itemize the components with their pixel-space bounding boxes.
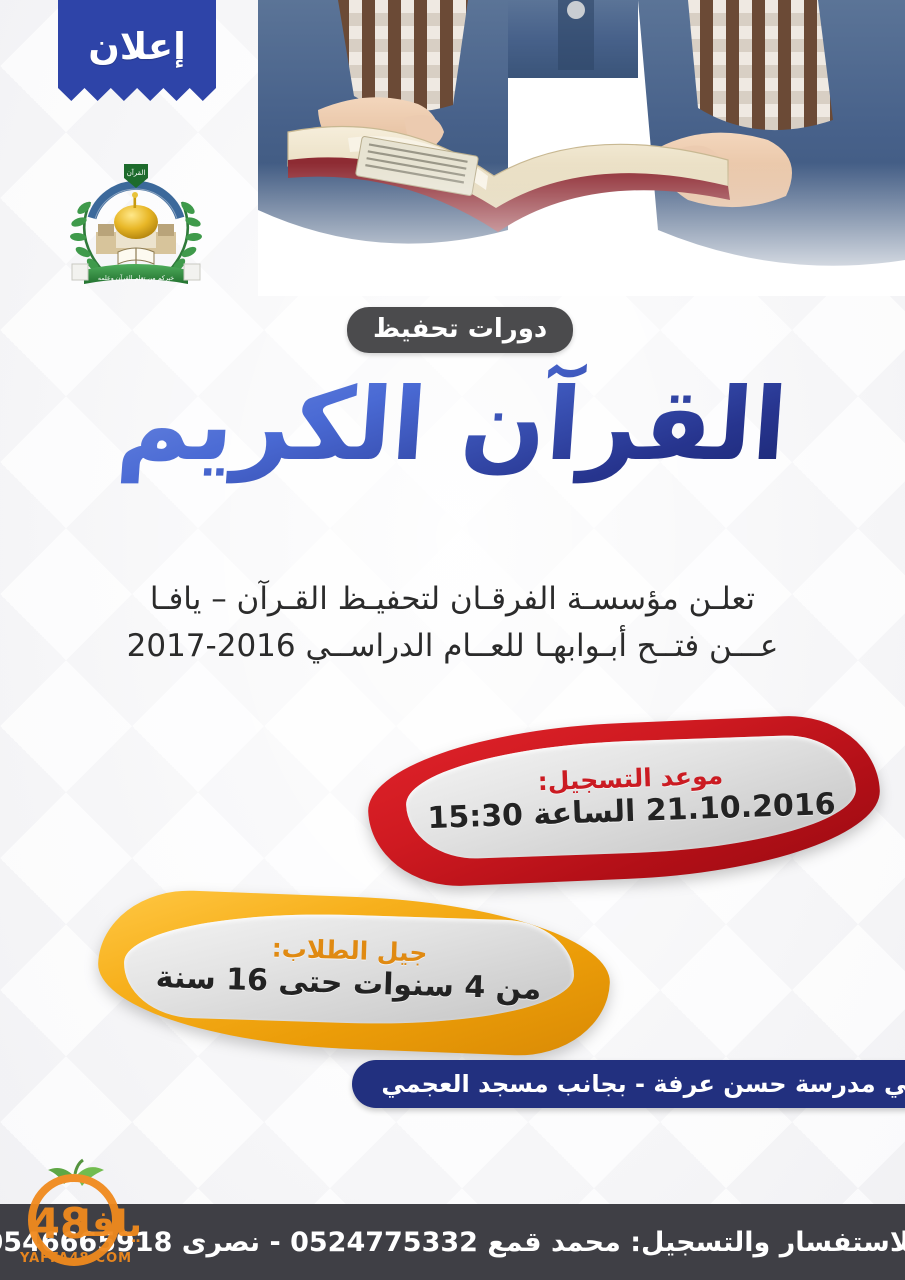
svg-text:خيركم من تعلم القرآن وعلمه: خيركم من تعلم القرآن وعلمه — [98, 273, 174, 282]
announcement-body-line-2: عـــن فتــح أبـوابهـا للعــام الدراســي … — [48, 623, 857, 670]
course-type-badge: دورات تحفيظ — [347, 307, 573, 353]
announcement-ribbon-label: إعلان — [58, 0, 216, 92]
announcement-body: تعلـن مؤسسـة الفرقـان لتحفيـظ القـرآن – … — [0, 576, 905, 670]
location-text: في مدرسة حسن عرفة - بجانب مسجد العجمي — [381, 1070, 905, 1098]
registration-badge-value: 21.10.2016 الساعة 15:30 — [427, 787, 836, 837]
svg-text:القرآن: القرآن — [127, 168, 146, 177]
age-badge-value: من 4 سنوات حتى 16 سنة — [155, 960, 542, 1008]
age-badge-inner: جيل الطلاب: من 4 سنوات حتى 16 سنة — [122, 908, 575, 1030]
yaffa48-watermark-logo: 48 يافا YAFFA48.COM — [14, 1158, 154, 1274]
page-title: القرآن الكريم — [0, 360, 905, 490]
location-bar: في مدرسة حسن عرفة - بجانب مسجد العجمي — [352, 1060, 905, 1108]
quran-reader-photo — [258, 0, 905, 296]
foundation-emblem-icon: القرآن خيركم من تعلم القرآن وعلمه — [62, 146, 210, 296]
svg-text:يافا: يافا — [78, 1204, 142, 1245]
announcement-ribbon: إعلان — [58, 0, 216, 105]
student-age-badge: جيل الطلاب: من 4 سنوات حتى 16 سنة — [98, 897, 610, 1049]
announcement-body-line-1: تعلـن مؤسسـة الفرقـان لتحفيـظ القـرآن – … — [48, 576, 857, 623]
poster-root: إعلان — [0, 0, 905, 1280]
age-badge-label: جيل الطلاب: — [271, 934, 428, 968]
svg-text:YAFFA48.COM: YAFFA48.COM — [19, 1251, 132, 1266]
registration-date-badge: موعد التسجيل: 21.10.2016 الساعة 15:30 — [368, 723, 880, 879]
